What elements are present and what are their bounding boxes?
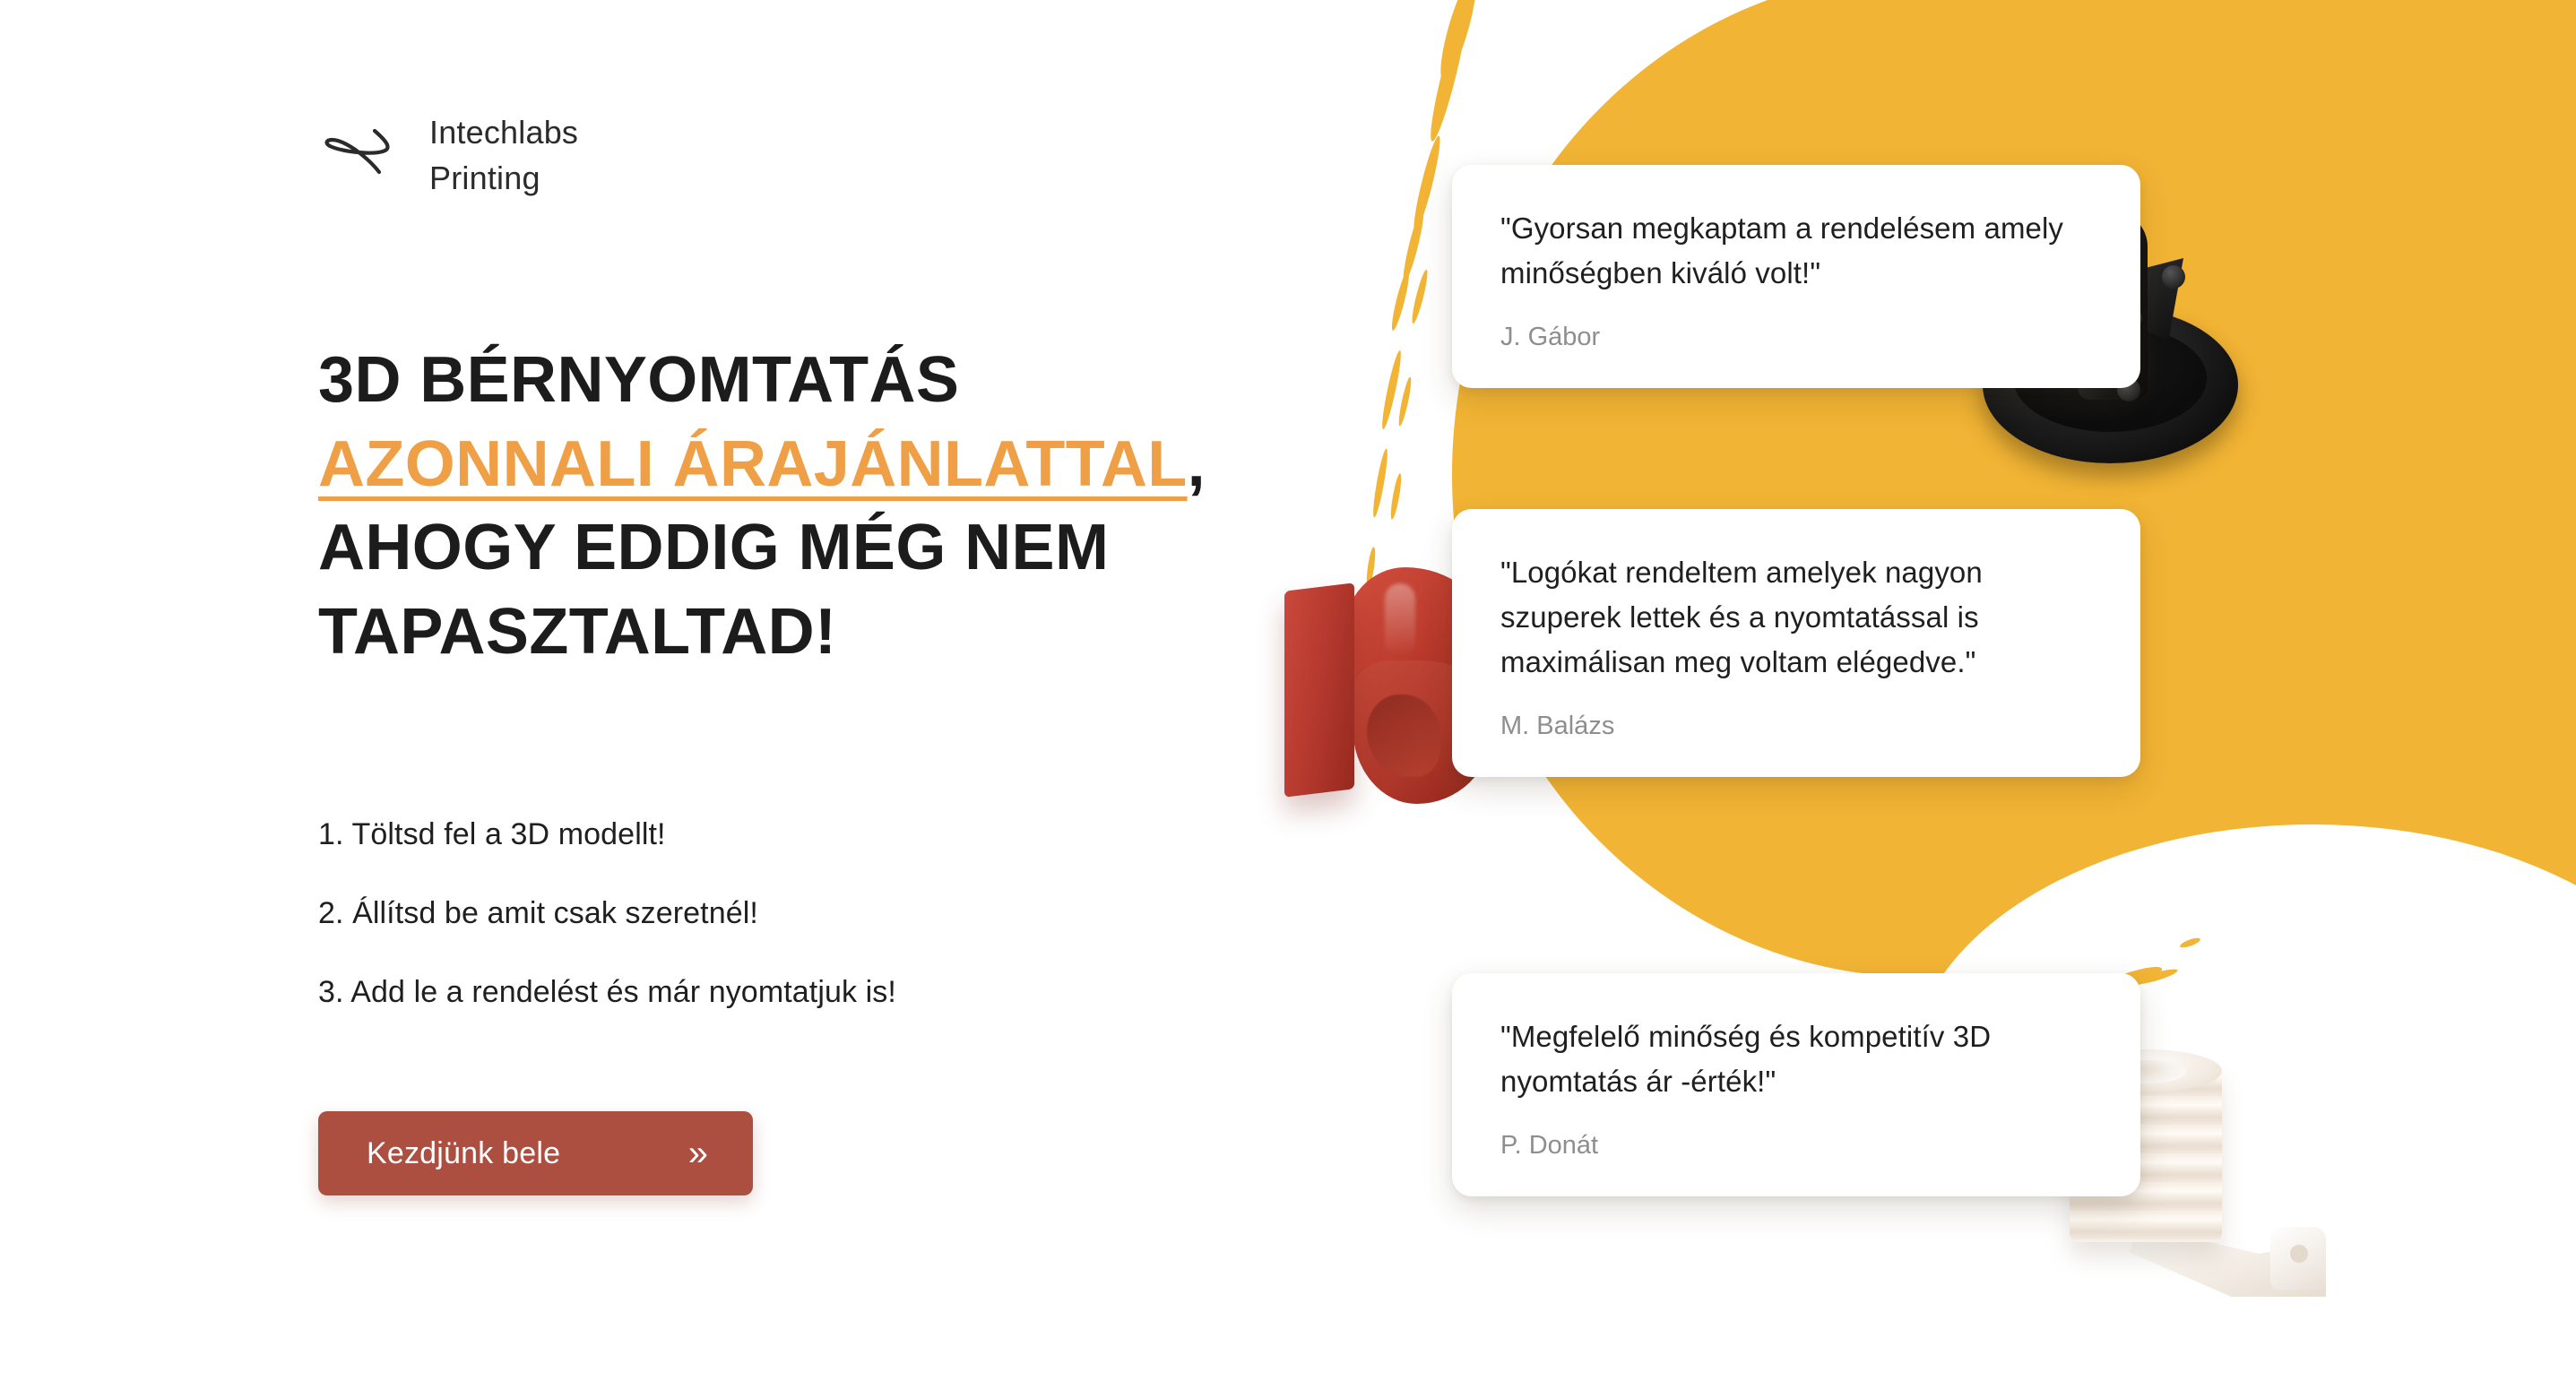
headline-line-3: AHOGY EDDIG MÉG NEM bbox=[318, 506, 1268, 591]
brush-streak-icon bbox=[1370, 448, 1389, 518]
testimonial-author: J. Gábor bbox=[1500, 323, 2092, 352]
headline-line-4: TAPASZTALTAD! bbox=[318, 591, 1268, 675]
page-title: 3D BÉRNYOMTATÁS AZONNALI ÁRAJÁNLATTAL, A… bbox=[318, 339, 1268, 674]
squiggle-logo-icon bbox=[318, 121, 404, 189]
double-chevron-right-icon: » bbox=[688, 1135, 708, 1171]
testimonial-card: "Logókat rendeltem amelyek nagyon szuper… bbox=[1452, 509, 2140, 777]
brand-name: Intechlabs Printing bbox=[429, 109, 578, 201]
hero-section: "Gyorsan megkaptam a rendelésem amely mi… bbox=[0, 0, 2576, 1398]
list-item: 3. Add le a rendelést és már nyomtatjuk … bbox=[318, 977, 1215, 1007]
list-item: 1. Töltsd fel a 3D modellt! bbox=[318, 819, 1215, 850]
brush-streak-icon bbox=[1410, 134, 1444, 233]
testimonial-author: M. Balázs bbox=[1500, 712, 2092, 741]
testimonial-card: "Gyorsan megkaptam a rendelésem amely mi… bbox=[1452, 165, 2140, 388]
get-started-label: Kezdjünk bele bbox=[367, 1136, 560, 1171]
brand-logo[interactable]: Intechlabs Printing bbox=[318, 109, 578, 201]
hero-content-column: Intechlabs Printing 3D BÉRNYOMTATÁS AZON… bbox=[318, 0, 1304, 1398]
headline-line-2: AZONNALI ÁRAJÁNLATTAL, bbox=[318, 423, 1268, 507]
testimonial-card: "Megfelelő minőség és kompetitív 3D nyom… bbox=[1452, 973, 2140, 1196]
testimonial-quote: "Gyorsan megkaptam a rendelésem amely mi… bbox=[1500, 206, 2092, 296]
brush-streak-icon bbox=[1396, 376, 1413, 427]
headline-accent-suffix: , bbox=[1188, 428, 1206, 500]
testimonial-quote: "Megfelelő minőség és kompetitív 3D nyom… bbox=[1500, 1014, 2092, 1104]
headline-line-1: 3D BÉRNYOMTATÁS bbox=[318, 339, 1268, 423]
list-item: 2. Állítsd be amit csak szeretnél! bbox=[318, 898, 1215, 928]
testimonial-author: P. Donát bbox=[1500, 1131, 2092, 1161]
testimonial-quote: "Logókat rendeltem amelyek nagyon szuper… bbox=[1500, 550, 2092, 685]
brush-streak-icon bbox=[1389, 473, 1404, 520]
steps-list: 1. Töltsd fel a 3D modellt! 2. Állítsd b… bbox=[318, 819, 1215, 1007]
yellow-panel-stage bbox=[1362, 0, 2576, 1013]
yellow-background-shape bbox=[1452, 0, 2576, 977]
get-started-button[interactable]: Kezdjünk bele » bbox=[318, 1111, 753, 1195]
instant-quote-link[interactable]: AZONNALI ÁRAJÁNLATTAL bbox=[318, 428, 1188, 500]
brush-streak-icon bbox=[1434, 0, 1482, 83]
brush-streak-icon bbox=[1410, 269, 1431, 324]
brush-streak-icon bbox=[1389, 269, 1413, 332]
